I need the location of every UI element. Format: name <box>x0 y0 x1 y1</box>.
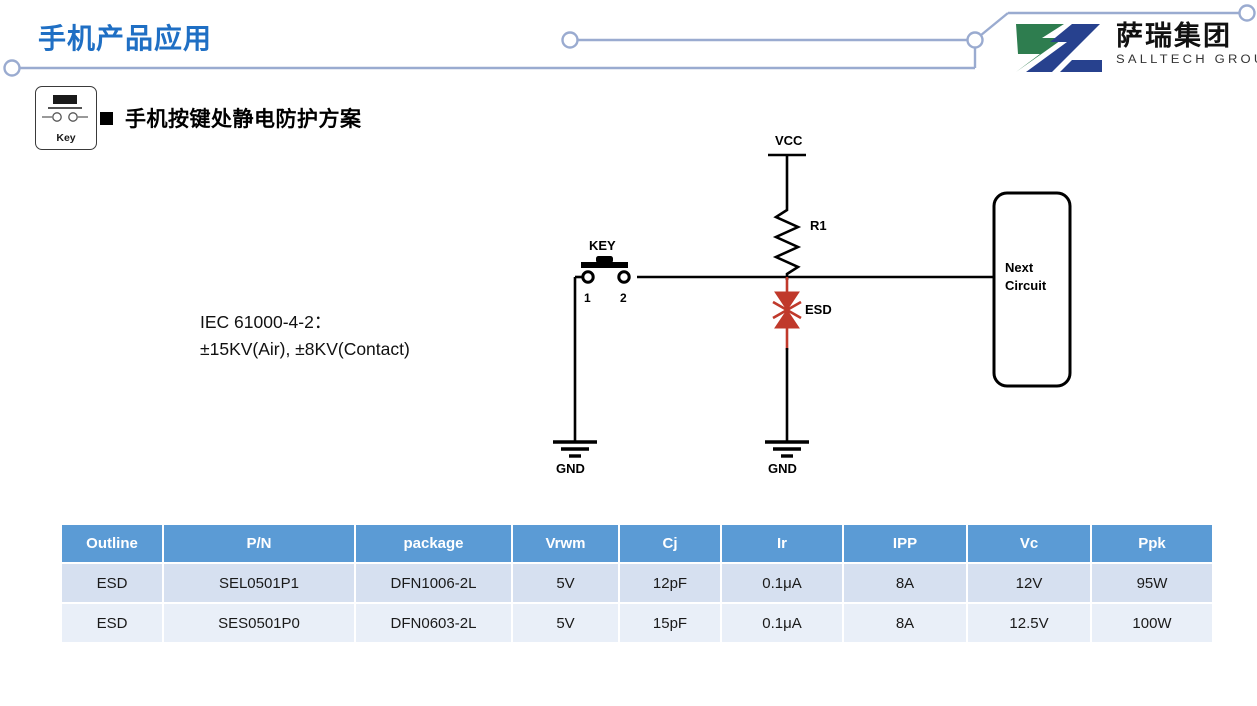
iec-note-line2: ±15KV(Air), ±8KV(Contact) <box>200 336 410 363</box>
logo-name-en: SALLTECH GROUP <box>1116 52 1257 67</box>
table-header-row: Outline P/N package Vrwm Cj Ir IPP Vc Pp… <box>62 525 1212 563</box>
table-cell: 100W <box>1091 603 1212 642</box>
gnd-right-symbol <box>765 442 809 456</box>
table-header-cell: Outline <box>62 525 163 563</box>
table-cell: DFN0603-2L <box>355 603 512 642</box>
key-switch-symbol <box>581 256 629 282</box>
table-cell: 5V <box>512 563 619 603</box>
table-cell: ESD <box>62 563 163 603</box>
table-header-cell: Vrwm <box>512 525 619 563</box>
push-button-switch-icon <box>36 87 94 131</box>
key-icon-label: Key <box>36 132 96 144</box>
gnd-left-symbol <box>553 442 597 456</box>
gnd-left-label: GND <box>556 461 585 476</box>
table-cell: 8A <box>843 603 967 642</box>
table-header-cell: IPP <box>843 525 967 563</box>
circuit-schematic: VCC R1 KEY 1 2 GND <box>520 120 1140 490</box>
next-circuit-label-line2: Circuit <box>1005 278 1047 293</box>
table-cell: 0.1μA <box>721 603 843 642</box>
table-cell: SEL0501P1 <box>163 563 355 603</box>
table-cell: 12pF <box>619 563 721 603</box>
salltech-sz-logo-icon <box>1012 22 1108 74</box>
iec-standard-note: IEC 61000-4-2： ±15KV(Air), ±8KV(Contact) <box>200 309 410 363</box>
vcc-label: VCC <box>775 133 803 148</box>
table-cell: SES0501P0 <box>163 603 355 642</box>
next-circuit-label-line1: Next <box>1005 260 1034 275</box>
table-row: ESD SEL0501P1 DFN1006-2L 5V 12pF 0.1μA 8… <box>62 563 1212 603</box>
table-cell: 5V <box>512 603 619 642</box>
table-header-cell: Ppk <box>1091 525 1212 563</box>
table-header-cell: package <box>355 525 512 563</box>
brand-logo: 萨瑞集团 SALLTECH GROUP <box>1012 20 1252 78</box>
resistor-r1-label: R1 <box>810 218 827 233</box>
table-header-cell: Ir <box>721 525 843 563</box>
section-heading-text: 手机按键处静电防护方案 <box>125 103 362 133</box>
key-pin2-label: 2 <box>620 291 627 305</box>
table-cell: ESD <box>62 603 163 642</box>
key-switch-label: KEY <box>589 238 616 253</box>
key-pin1-label: 1 <box>584 291 591 305</box>
table-header-cell: Vc <box>967 525 1091 563</box>
gnd-right-label: GND <box>768 461 797 476</box>
table-cell: 0.1μA <box>721 563 843 603</box>
deco-line-diagonal <box>975 13 1008 40</box>
deco-node-middle <box>563 33 578 48</box>
deco-node-left <box>5 61 20 76</box>
page-title: 手机产品应用 <box>38 17 212 57</box>
esd-diode-label: ESD <box>805 302 832 317</box>
esd-diode-symbol <box>773 277 801 350</box>
table-header-cell: P/N <box>163 525 355 563</box>
table-cell: 12V <box>967 563 1091 603</box>
specification-table: Outline P/N package Vrwm Cj Ir IPP Vc Pp… <box>62 525 1212 642</box>
iec-note-line1: IEC 61000-4-2： <box>200 309 410 336</box>
deco-node-junction <box>968 33 983 48</box>
bullet-square-icon <box>100 112 113 125</box>
table-row: ESD SES0501P0 DFN0603-2L 5V 15pF 0.1μA 8… <box>62 603 1212 642</box>
logo-name-cn: 萨瑞集团 <box>1116 20 1257 52</box>
table-cell: DFN1006-2L <box>355 563 512 603</box>
table-header-cell: Cj <box>619 525 721 563</box>
table-cell: 15pF <box>619 603 721 642</box>
deco-node-right <box>1240 6 1255 21</box>
resistor-r1-symbol <box>776 205 798 280</box>
key-icon-box: Key <box>35 86 97 150</box>
logo-text-block: 萨瑞集团 SALLTECH GROUP <box>1116 20 1257 68</box>
table-cell: 95W <box>1091 563 1212 603</box>
table-cell: 8A <box>843 563 967 603</box>
slide-root: 手机产品应用 萨瑞集团 SALLTECH GROUP Key 手机按键处静电防护… <box>0 0 1257 706</box>
section-heading: 手机按键处静电防护方案 <box>100 103 362 133</box>
table-cell: 12.5V <box>967 603 1091 642</box>
